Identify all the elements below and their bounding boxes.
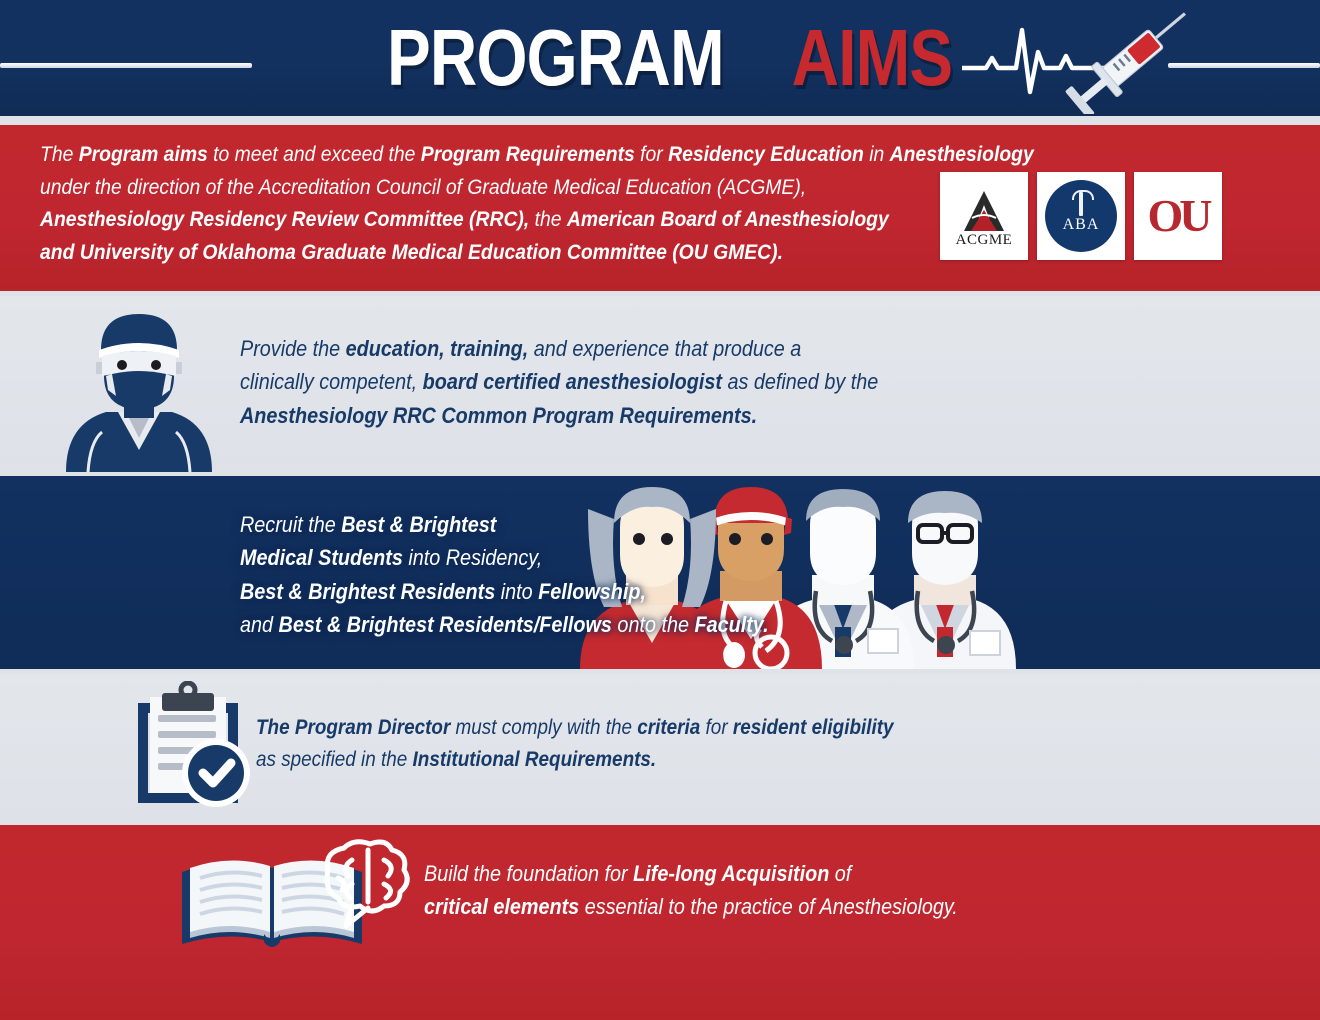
text-line: The Program Director must comply with th…: [256, 712, 1136, 744]
section-recruit-text: Recruit the Best & Brightest Medical Stu…: [240, 508, 1140, 642]
text-line: Medical Students into Residency,: [240, 541, 1140, 574]
text-line: Recruit the Best & Brightest: [240, 508, 1140, 541]
ou-logo-label: OU: [1148, 193, 1209, 239]
text-line: as specified in the Institutional Requir…: [256, 744, 1136, 776]
text-line: clinically competent, board certified an…: [240, 365, 1100, 398]
text-line: Anesthesiology RRC Common Program Requir…: [240, 399, 1100, 432]
acgme-mark-icon: [956, 188, 1012, 234]
aba-logo-label: ABA: [1045, 180, 1117, 252]
ou-logo: OU: [1134, 172, 1222, 260]
text-line: Best & Brightest Residents into Fellowsh…: [240, 575, 1140, 608]
infographic-page: PROGRAMAIMS: [0, 0, 1320, 1020]
accreditation-logos: ACGME ABA OU: [940, 172, 1222, 260]
surgeon-icon: [44, 306, 234, 472]
aba-logo: ABA: [1037, 172, 1125, 260]
section-lifelong-learning-text: Build the foundation for Life-long Acqui…: [424, 857, 1244, 924]
acgme-logo-label: ACGME: [956, 232, 1013, 249]
text-line: The Program aims to meet and exceed the …: [40, 138, 1180, 171]
header-banner: PROGRAMAIMS: [0, 0, 1320, 116]
syringe-icon: [1058, 4, 1208, 114]
text-line: critical elements essential to the pract…: [424, 890, 1244, 923]
section-education-text: Provide the education, training, and exp…: [240, 332, 1100, 432]
text-line: Build the foundation for Life-long Acqui…: [424, 857, 1244, 890]
acgme-logo: ACGME: [940, 172, 1028, 260]
book-brain-icon: [176, 838, 426, 950]
section-eligibility-text: The Program Director must comply with th…: [256, 712, 1136, 776]
text-line: and Best & Brightest Residents/Fellows o…: [240, 608, 1140, 641]
text-line: Provide the education, training, and exp…: [240, 332, 1100, 365]
page-title-red: AIMS: [792, 10, 953, 106]
clipboard-check-icon: [128, 681, 260, 813]
page-title-white: PROGRAM: [387, 10, 724, 106]
